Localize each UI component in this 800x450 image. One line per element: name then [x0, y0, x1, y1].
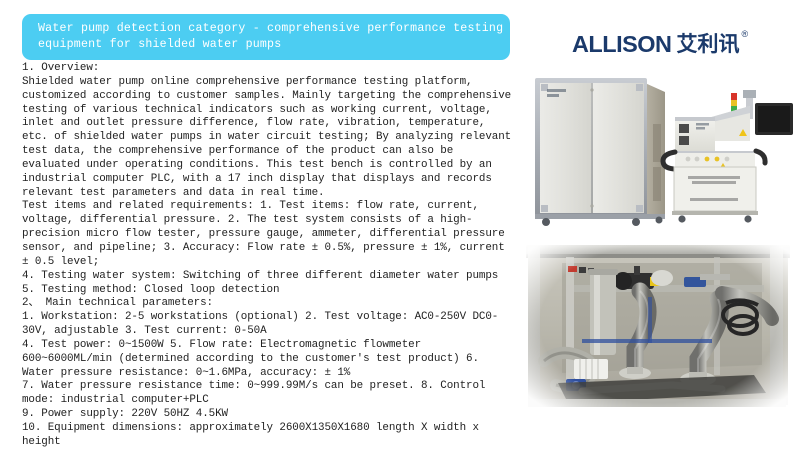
product-photo-machines: [522, 66, 794, 228]
description-paragraph: 1. Workstation: 2-5 workstations (option…: [22, 311, 514, 339]
product-photo-piping: [522, 233, 794, 415]
piping-illustration: [522, 233, 794, 415]
description-paragraph: 4. Testing water system: Switching of th…: [22, 270, 514, 284]
description-paragraph: 7. Water pressure resistance time: 0~999…: [22, 380, 514, 408]
page-title-line-2: equipment for shielded water pumps: [38, 37, 496, 53]
registered-trademark-icon: ®: [741, 30, 748, 39]
machines-illustration: [522, 66, 794, 228]
description-paragraph: 9. Power supply: 220V 50HZ 4.5KW: [22, 408, 514, 422]
description-paragraph: Shielded water pump online comprehensive…: [22, 76, 514, 201]
brand-name-chinese: 艾利讯: [676, 32, 739, 56]
description-paragraph: 4. Test power: 0~1500W 5. Flow rate: Ele…: [22, 339, 514, 381]
brand-name-english: ALLISON: [572, 32, 671, 56]
description-paragraph: 10. Equipment dimensions: approximately …: [22, 422, 514, 450]
brand-logo: ALLISON 艾利讯 ®: [572, 32, 748, 56]
description-paragraph: 5. Testing method: Closed loop detection: [22, 284, 514, 298]
description-paragraph: 2、 Main technical parameters:: [22, 297, 514, 311]
description-paragraph: 1. Overview:: [22, 62, 514, 76]
product-description: 1. Overview: Shielded water pump online …: [22, 62, 514, 450]
product-spec-page: Water pump detection category - comprehe…: [0, 0, 800, 450]
description-paragraph: Test items and related requirements: 1. …: [22, 200, 514, 269]
page-title-line-1: Water pump detection category - comprehe…: [38, 21, 496, 37]
page-title-banner: Water pump detection category - comprehe…: [22, 14, 510, 60]
